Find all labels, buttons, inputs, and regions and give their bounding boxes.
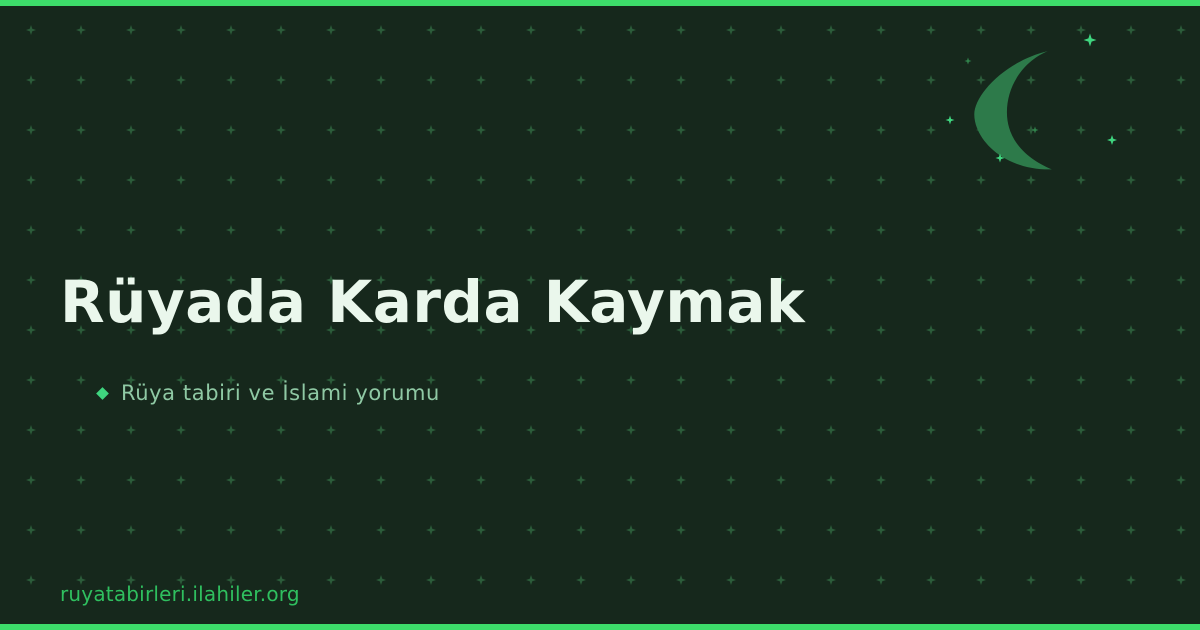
page-subtitle: Rüya tabiri ve İslami yorumu	[121, 378, 440, 408]
content-block: Rüyada Karda Kaymak Rüya tabiri ve İslam…	[60, 0, 1060, 630]
diamond-bullet-icon	[96, 387, 109, 400]
og-image-card: Rüyada Karda Kaymak Rüya tabiri ve İslam…	[0, 0, 1200, 630]
page-title: Rüyada Karda Kaymak	[60, 268, 805, 336]
subtitle-row: Rüya tabiri ve İslami yorumu	[40, 378, 440, 408]
bottom-accent-bar	[0, 624, 1200, 630]
site-url: ruyatabirleri.ilahiler.org	[60, 581, 300, 607]
